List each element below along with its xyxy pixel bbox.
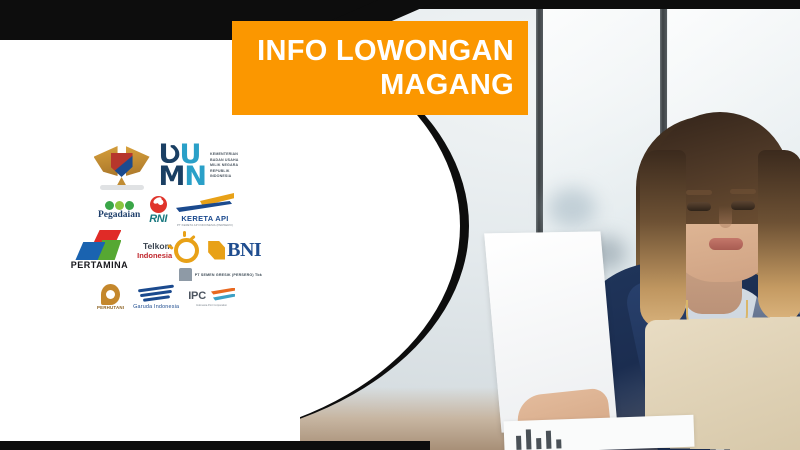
chart-bar	[526, 429, 532, 449]
eye-left	[687, 202, 711, 211]
telkom-indonesia-logo: Telkom Indonesia	[137, 238, 199, 263]
telkom-text: Telkom Indonesia	[137, 241, 172, 260]
telkom-ring-icon	[174, 238, 199, 263]
logo-row: PT SEMEN GRESIK (PERSERO) Tbk	[68, 268, 264, 281]
telkom-ray	[183, 231, 186, 237]
bni-mark-icon	[208, 241, 225, 260]
bumn-wordmark: ƲU MN KEMENTERIAN BADAN USAHA MILIK NEGA…	[159, 144, 239, 187]
perhutani-mark-icon	[101, 284, 120, 305]
semen-gresik-mark-icon	[179, 268, 192, 281]
logo-row: PERHUTANI Garuda Indonesia IPC	[68, 284, 264, 310]
bni-logo: BNI	[208, 239, 261, 262]
bumn-letter-m: M	[159, 161, 185, 192]
eyebrow-right	[730, 189, 756, 194]
headline-banner: INFO LOWONGAN MAGANG	[232, 21, 528, 115]
poster-canvas: INFO LOWONGAN MAGANG ƲU MN	[0, 0, 800, 450]
pegadaian-dot	[115, 201, 124, 210]
garuda-indonesia-logo: Garuda Indonesia	[133, 285, 179, 310]
hair-side-left	[640, 150, 686, 328]
perhutani-label: PERHUTANI	[97, 305, 124, 310]
logo-row: Pegadaian RNI KERETA API PT KERETA API I…	[68, 193, 264, 227]
telkom-sublabel: Indonesia	[137, 251, 172, 260]
bumn-sub-line: MILIK NEGARA	[210, 163, 238, 169]
chart-bar	[556, 439, 561, 448]
pegadaian-logo: Pegadaian	[98, 201, 140, 220]
bumn-sub-line: INDONESIA	[210, 174, 238, 180]
telkom-wordmark: Telkom Indonesia	[137, 238, 199, 263]
garuda-indonesia-label: Garuda Indonesia	[133, 304, 179, 310]
garuda-emblem-icon	[94, 142, 150, 190]
perhutani-logo: PERHUTANI	[97, 284, 124, 310]
headline-line-2: MAGANG	[380, 68, 514, 102]
bumn-logo: ƲU MN KEMENTERIAN BADAN USAHA MILIK NEGA…	[159, 144, 239, 187]
eye-right	[731, 201, 755, 210]
bumn-sub-line: KEMENTERIAN	[210, 152, 238, 158]
rni-logo: RNI	[149, 196, 167, 225]
nose	[719, 206, 732, 228]
ipc-swoosh-orange	[211, 288, 235, 295]
kereta-api-logo: KERETA API PT KERETA API INDONESIA (PERS…	[176, 193, 234, 227]
hair-side-right	[758, 150, 800, 322]
ipc-sublabel: Indonesia Port Corporation	[196, 304, 227, 307]
rni-label: RNI	[149, 213, 167, 225]
chart-bar	[516, 436, 521, 450]
bumn-ministry-text: KEMENTERIAN BADAN USAHA MILIK NEGARA REP…	[210, 152, 238, 180]
kereta-api-label: KERETA API	[181, 214, 228, 223]
telkom-ray	[189, 234, 195, 240]
eyebrow-left	[686, 190, 712, 195]
bumn-mark-icon: ƲU MN	[159, 144, 206, 187]
garuda-indonesia-mark-icon	[136, 285, 176, 304]
rni-mark-icon	[150, 196, 167, 213]
pegadaian-label: Pegadaian	[98, 210, 140, 220]
bumn-logo-collage: ƲU MN KEMENTERIAN BADAN USAHA MILIK NEGA…	[68, 142, 264, 310]
semen-gresik-label: PT SEMEN GRESIK (PERSERO) Tbk	[195, 273, 262, 277]
garuda-motto-ribbon	[100, 185, 144, 190]
pertamina-mark-icon	[75, 230, 123, 260]
chart-bar	[536, 438, 541, 449]
bni-wordmark: BNI	[208, 239, 261, 262]
kereta-api-sublabel: PT KERETA API INDONESIA (PERSERO)	[177, 223, 233, 227]
chart-bar	[546, 431, 552, 449]
desk-chart-document	[503, 415, 694, 450]
headline-line-1: INFO LOWONGAN	[257, 34, 514, 68]
pegadaian-dot	[125, 201, 134, 210]
ipc-logo: IPC Indonesia Port Corporation	[188, 288, 235, 307]
ipc-swoosh-blue	[213, 294, 235, 301]
bni-label: BNI	[227, 239, 261, 262]
lips	[709, 238, 743, 250]
semen-gresik-logo: PT SEMEN GRESIK (PERSERO) Tbk	[179, 268, 262, 281]
ipc-wordmark: IPC	[188, 288, 235, 304]
ipc-mark-icon	[209, 288, 235, 304]
pegadaian-mark-icon	[105, 201, 134, 210]
pertamina-logo: PERTAMINA	[71, 230, 128, 270]
logo-row: PERTAMINA Telkom Indonesia	[68, 230, 264, 270]
garuda-pancasila-emblem	[94, 142, 150, 190]
ipc-label: IPC	[188, 290, 206, 302]
bumn-letter-n: N	[184, 161, 206, 192]
pegadaian-dot	[105, 201, 114, 210]
logo-row: ƲU MN KEMENTERIAN BADAN USAHA MILIK NEGA…	[68, 142, 264, 190]
bokeh-highlight	[548, 188, 596, 228]
kereta-api-mark-icon	[176, 193, 234, 214]
